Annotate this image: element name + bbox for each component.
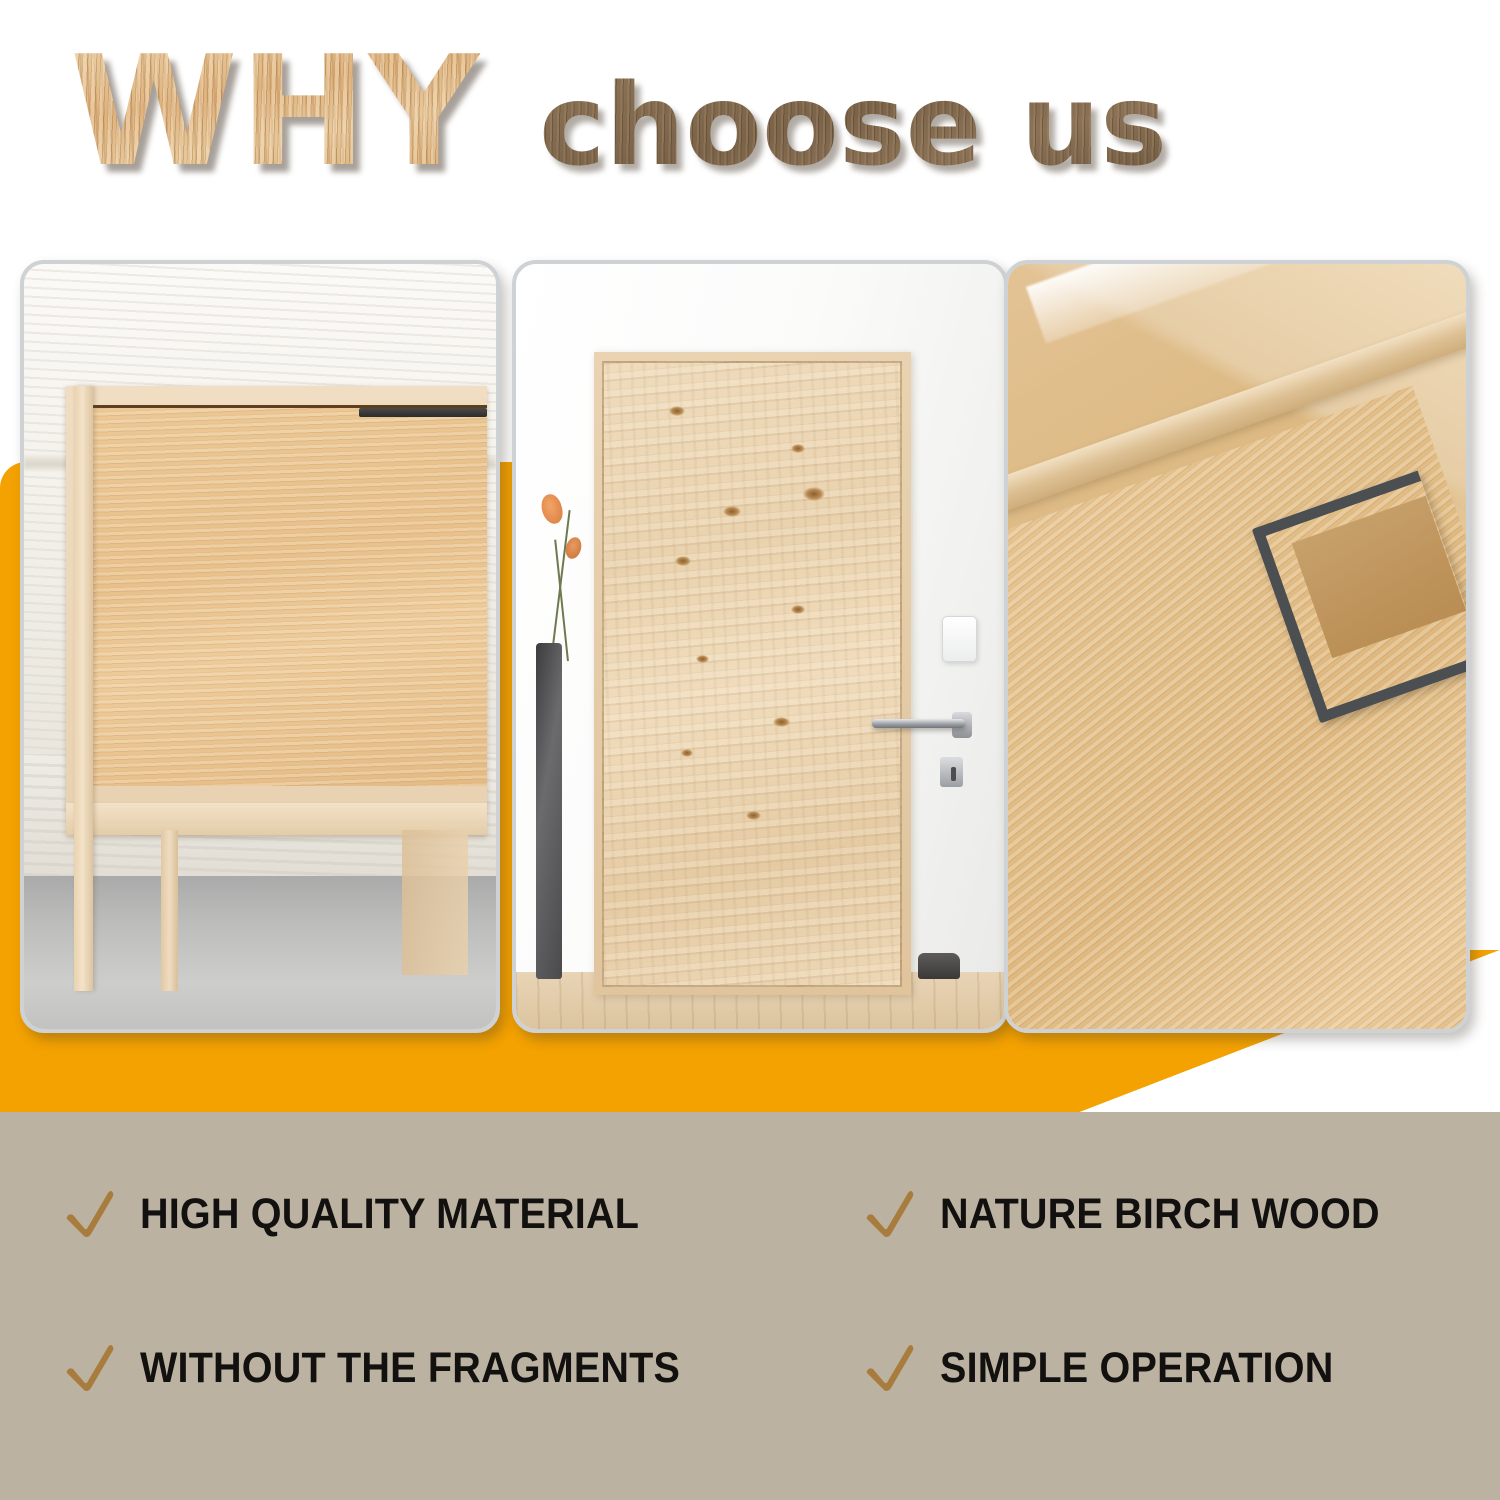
features-grid: HIGH QUALITY MATERIAL NATURE BIRCH WOOD … (0, 1112, 1500, 1500)
gallery-card-cabinet (20, 260, 500, 1033)
cabinet-handle (359, 408, 486, 417)
title-primary-why: WHY (70, 36, 487, 188)
floor-vase (536, 643, 562, 980)
title-secondary-choose-us: choose us (539, 70, 1167, 182)
page-title: WHY choose us (70, 36, 1167, 188)
feature-label: NATURE BIRCH WOOD (940, 1190, 1380, 1239)
wood-knot-icon (669, 406, 685, 416)
cabinet-leg-back (402, 830, 468, 975)
gallery-card-drawer-edge (1004, 260, 1470, 1033)
feature-item: WITHOUT THE FRAGMENTS (62, 1340, 727, 1396)
cabinet-leg-left (74, 386, 94, 990)
keyhole-icon (951, 767, 956, 781)
feature-label: HIGH QUALITY MATERIAL (140, 1190, 639, 1239)
header: WHY choose us (0, 0, 1500, 240)
wood-knot-icon (773, 717, 790, 727)
wood-knot-icon (675, 556, 691, 566)
wood-knot-icon (803, 487, 825, 501)
feature-item: NATURE BIRCH WOOD (862, 1186, 1418, 1242)
door-lever-handle (872, 719, 965, 728)
door-frame (594, 352, 911, 995)
feature-item: SIMPLE OPERATION (862, 1340, 1368, 1396)
feature-item: HIGH QUALITY MATERIAL (62, 1186, 682, 1242)
drawer-edge-photo (1008, 264, 1466, 1029)
light-switch (942, 616, 977, 662)
check-icon (862, 1186, 918, 1242)
gallery-card-door (512, 260, 1008, 1033)
check-icon (62, 1340, 118, 1396)
check-icon (62, 1186, 118, 1242)
wood-knot-icon (723, 506, 741, 517)
oak-door-photo (516, 264, 1004, 1029)
features-panel: HIGH QUALITY MATERIAL NATURE BIRCH WOOD … (0, 1112, 1500, 1500)
why-choose-us-infographic: WHY choose us (0, 0, 1500, 1500)
feature-label: WITHOUT THE FRAGMENTS (140, 1344, 680, 1393)
wood-knot-icon (746, 811, 761, 820)
wood-knot-icon (681, 749, 693, 757)
shoe-object (918, 953, 960, 979)
door-leaf (602, 361, 902, 987)
feature-label: SIMPLE OPERATION (940, 1344, 1333, 1393)
wood-knot-icon (791, 605, 805, 614)
wood-knot-icon (791, 444, 805, 453)
check-icon (862, 1340, 918, 1396)
cabinet-door-panel (83, 405, 487, 787)
cabinet-leg-right (161, 830, 178, 991)
wood-knot-icon (696, 655, 709, 663)
wooden-cabinet-photo (24, 264, 496, 1029)
